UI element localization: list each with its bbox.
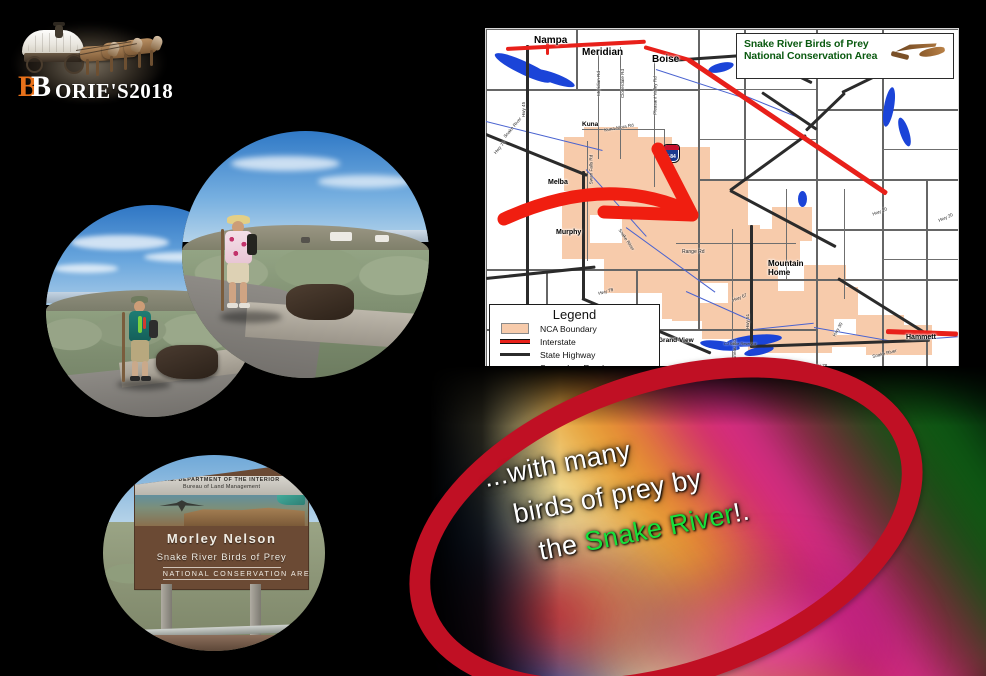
city-label-grand-view: Grand View [658,337,694,344]
city-label-murphy: Murphy [556,229,581,236]
sign-agency-line2: Bureau of Land Management [135,484,308,490]
logo-wordmark-text: ORIE'S2018 [55,80,173,102]
sign-post-left [161,584,172,635]
wagon-driver [54,22,64,38]
sign-name-line: Morley Nelson [135,531,308,546]
city-label-kuna: Kuna [582,121,598,128]
city-label-boise: Boise [652,54,679,65]
hiker-woman-figure [224,215,258,321]
nca-entrance-sign-board: U.S. DEPARTMENT OF THE INTERIOR Bureau o… [134,465,309,590]
legend-label-interstate: Interstate [540,337,576,347]
map-title-line1: Snake River Birds of Prey [744,39,877,51]
map-title-line2: National Conservation Area [744,51,877,63]
logo-monogram: B B [18,72,54,102]
road-label-pleasant-valley-rd: Pleasant Valley Rd [653,76,658,114]
legend-label-state-highway: State Highway [540,350,595,360]
bird-of-prey-icon [891,39,947,65]
nca-location-map: I-84 Nampa Meridian Boise Kuna Melba Mur… [485,28,959,390]
map-title-text: Snake River Birds of Prey National Conse… [744,39,877,64]
road-label-swan-falls-rd: Swan Falls Rd [588,155,593,185]
caption-line3-prefix: the [536,528,588,566]
legend-row-state-highway: State Highway [490,348,659,361]
road-label-hwy45: Hwy 45 [521,102,526,117]
sign-designation-line: NATIONAL CONSERVATION AREA [163,567,281,580]
borie-2018-watermark: B B ORIE'S2018 [6,14,171,106]
road-label-hwy51: Hwy 51 [745,314,750,329]
legend-row-interstate: Interstate [490,335,659,348]
photo-nca-entrance-sign: U.S. DEPARTMENT OF THE INTERIOR Bureau o… [103,455,325,651]
road-label-range-rd: Range Rd [682,249,705,255]
stone-wall [143,635,298,651]
legend-title: Legend [490,307,659,322]
city-label-melba: Melba [548,179,568,186]
city-label-nampa: Nampa [534,35,567,46]
nca-boundary-swatch [498,323,532,334]
logo-wordmark: B B ORIE'S2018 [18,72,173,102]
interstate-swatch [498,339,532,344]
label-cj-strike-reservoir: CJ Strike Reservoir [724,342,757,346]
city-label-hammett: Hammett [906,334,936,341]
falcon-silhouette-icon [159,500,204,511]
photo-woman-on-trail [182,131,429,378]
interstate-84-shield: I-84 [664,145,679,162]
sign-mural-artwork [135,493,308,526]
map-title-box: Snake River Birds of Prey National Conse… [736,33,954,79]
hiker-man-figure [127,296,157,386]
sign-subtitle-line: Snake River Birds of Prey [135,551,308,562]
legend-label-nca-boundary: NCA Boundary [540,324,597,334]
road-label-cloverdale-rd: Cloverdale Rd [620,69,625,98]
legend-row-nca-boundary: NCA Boundary [490,322,659,335]
city-label-mountain-home: Mountain Home [768,259,804,277]
monogram-white-b: B [31,72,51,102]
road-label-meridian-rd: Meridian Rd [596,71,601,96]
state-highway-swatch [498,353,532,357]
slide-canvas: B B ORIE'S2018 [0,0,986,676]
city-label-meridian: Meridian [582,47,623,58]
